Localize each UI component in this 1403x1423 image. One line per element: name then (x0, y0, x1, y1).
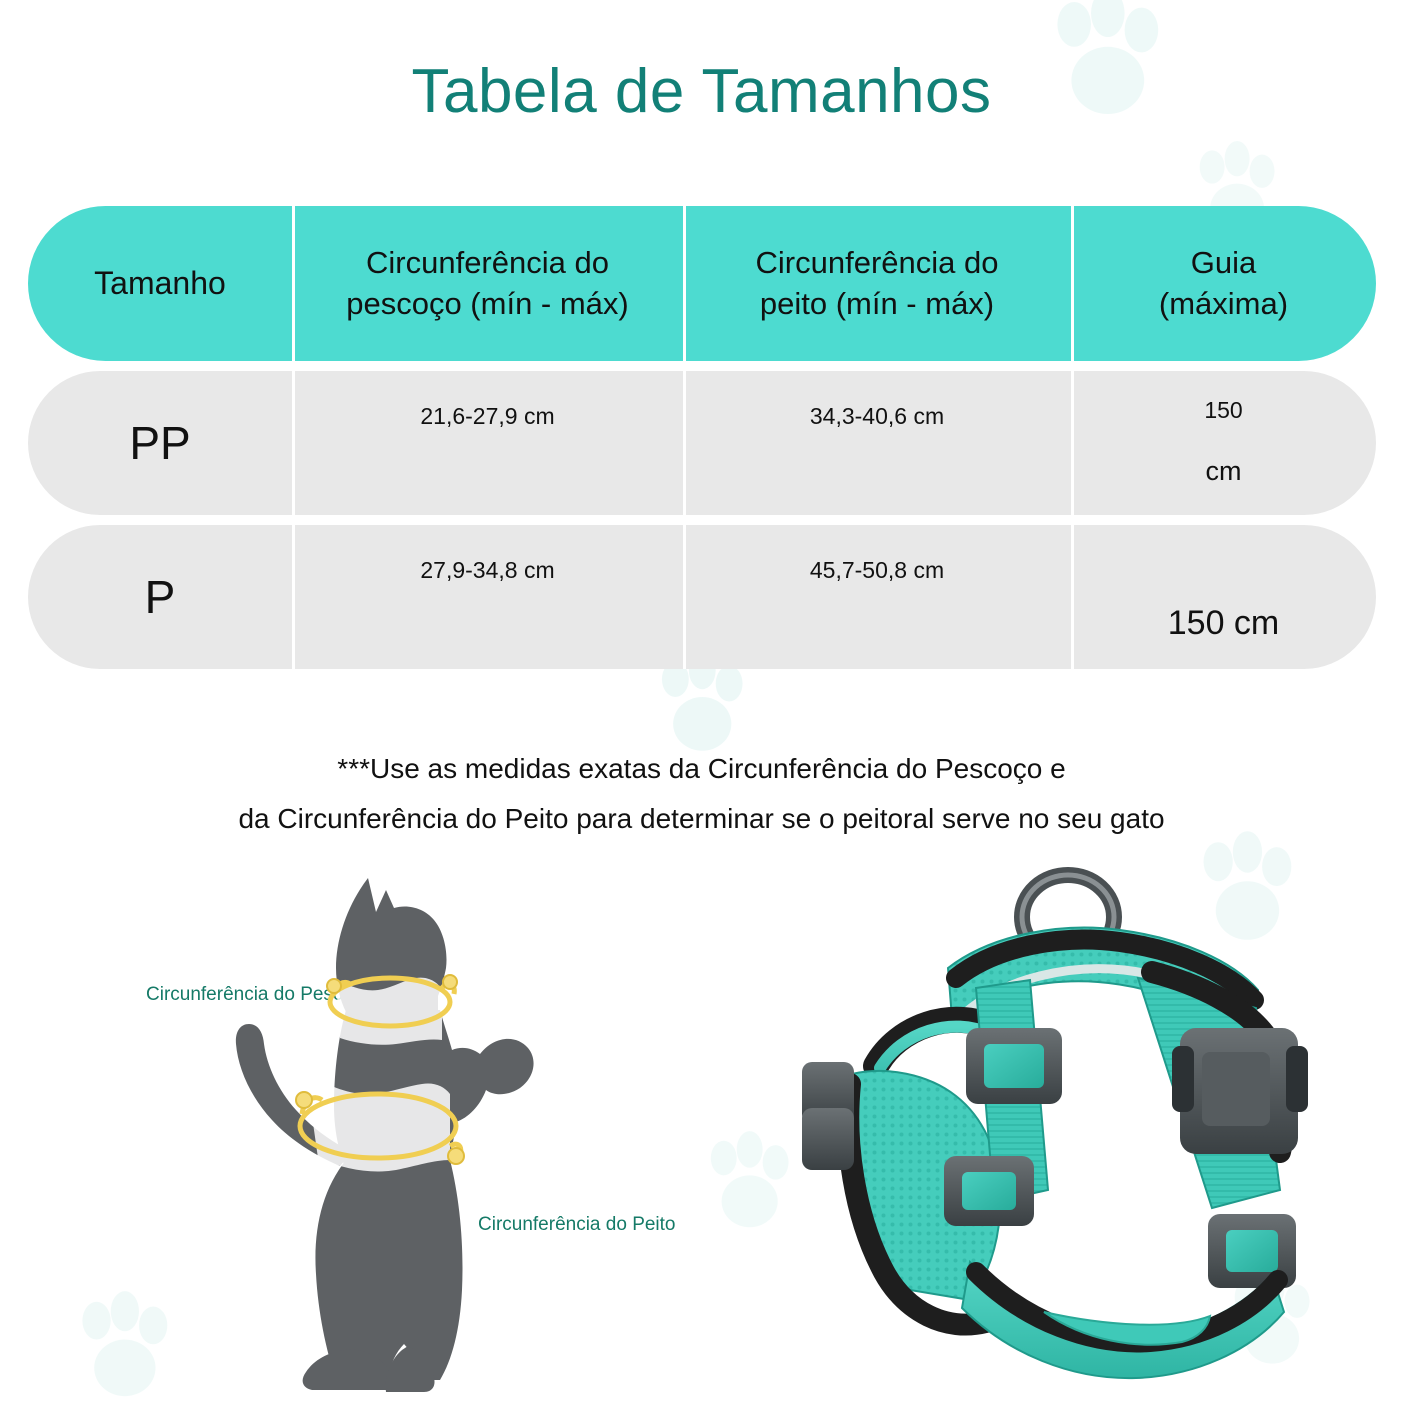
tape-end-dot (327, 979, 341, 993)
header-leash-line2: (máxima) (1159, 286, 1288, 321)
disclaimer-line-1: ***Use as medidas exatas da Circunferênc… (0, 744, 1403, 794)
cell-leash: 150 cm (1071, 371, 1376, 515)
tape-end-dot (443, 975, 457, 989)
measure-band-neck (336, 978, 442, 1045)
leash-value-part2: cm (1206, 456, 1242, 487)
strap-adjuster (802, 1062, 854, 1170)
header-chest-line1: Circunferência do (756, 245, 999, 280)
leash-value-part2: 150 cm (1168, 604, 1280, 643)
header-cell-chest: Circunferência do peito (mín - máx) (683, 206, 1071, 361)
size-chart-table: Tamanho Circunferência do pescoço (mín -… (28, 206, 1376, 679)
slider-buckle (944, 1156, 1034, 1226)
cat-silhouette-diagram (150, 860, 610, 1420)
tape-end-dot (296, 1092, 312, 1108)
header-cell-neck: Circunferência do pescoço (mín - máx) (292, 206, 683, 361)
size-value: PP (129, 416, 190, 470)
header-label-size: Tamanho (94, 262, 226, 304)
neck-value: 21,6-27,9 cm (420, 403, 554, 430)
cell-leash: 150 cm (1071, 525, 1376, 669)
table-row: P 27,9-34,8 cm 45,7-50,8 cm 150 cm (28, 525, 1376, 669)
table-row: PP 21,6-27,9 cm 34,3-40,6 cm 150 cm (28, 371, 1376, 515)
cell-chest: 34,3-40,6 cm (683, 371, 1071, 515)
tape-end-dot (448, 1148, 464, 1164)
header-neck-line2: pescoço (mín - máx) (346, 286, 629, 321)
quick-release-buckle (1172, 1028, 1308, 1154)
header-leash-line1: Guia (1191, 245, 1256, 280)
cell-chest: 45,7-50,8 cm (683, 525, 1071, 669)
cell-size: P (28, 525, 292, 669)
header-label-chest: Circunferência do peito (mín - máx) (756, 243, 999, 325)
neck-value: 27,9-34,8 cm (420, 557, 554, 584)
header-cell-size: Tamanho (28, 206, 292, 361)
header-label-neck: Circunferência do pescoço (mín - máx) (346, 243, 629, 325)
disclaimer-line-2: da Circunferência do Peito para determin… (0, 794, 1403, 844)
cell-size: PP (28, 371, 292, 515)
header-cell-leash: Guia (máxima) (1071, 206, 1376, 361)
cell-neck: 27,9-34,8 cm (292, 525, 683, 669)
harness-product-image (780, 860, 1350, 1380)
page-title: Tabela de Tamanhos (0, 56, 1403, 127)
chest-value: 45,7-50,8 cm (810, 557, 944, 584)
size-value: P (145, 570, 176, 624)
illustration-area: Circunferência do Pescoço Circunferência… (0, 860, 1403, 1423)
cell-neck: 21,6-27,9 cm (292, 371, 683, 515)
slider-buckle (966, 1028, 1062, 1104)
header-chest-line2: peito (mín - máx) (760, 286, 994, 321)
chest-value: 34,3-40,6 cm (810, 403, 944, 430)
header-label-leash: Guia (máxima) (1159, 243, 1288, 325)
measurement-disclaimer: ***Use as medidas exatas da Circunferênc… (0, 744, 1403, 844)
header-neck-line1: Circunferência do (366, 245, 609, 280)
table-header-row: Tamanho Circunferência do pescoço (mín -… (28, 206, 1376, 361)
leash-value-part1: 150 (1204, 397, 1242, 424)
